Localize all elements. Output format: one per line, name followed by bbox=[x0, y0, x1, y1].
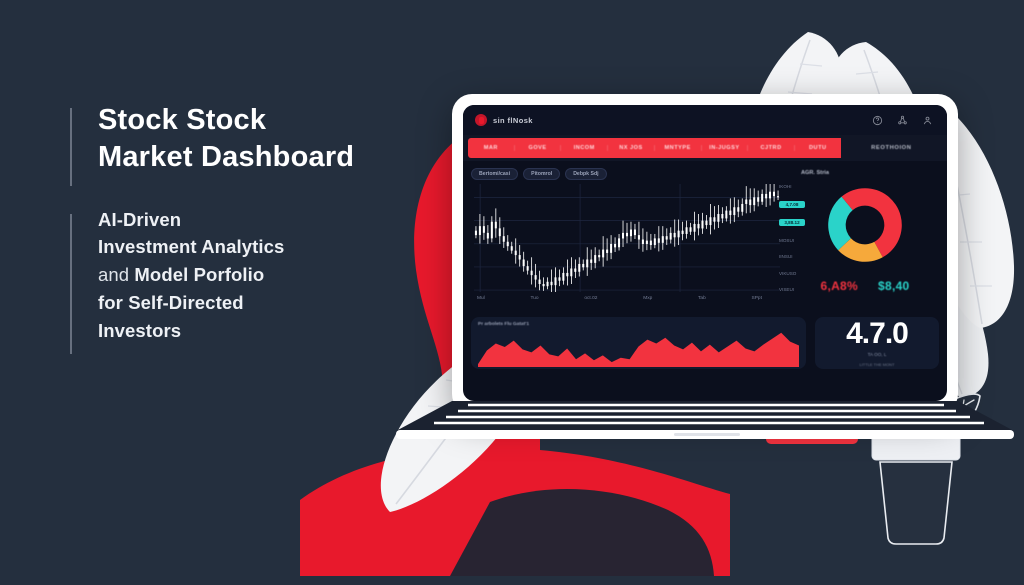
nav-item-7[interactable]: DUTU bbox=[795, 145, 841, 151]
stat-negative: 6,A8% bbox=[820, 279, 858, 293]
donut-title: AGR. Stria bbox=[801, 170, 939, 176]
subtitle-line-1: AI-Driven bbox=[98, 209, 181, 230]
hero-copy: Stock Stock Market Dashboard AI-Driven I… bbox=[70, 102, 430, 344]
nav-item-3[interactable]: NX JOS bbox=[608, 145, 655, 151]
help-circle-icon[interactable] bbox=[872, 115, 883, 126]
y-label-0: IKOHI bbox=[779, 184, 805, 189]
donut-chart bbox=[791, 179, 939, 271]
volatility-card: Pr arbolets Flu Gatat'1 bbox=[471, 317, 806, 369]
big-number-sub: TA OO, L bbox=[868, 352, 887, 357]
y-label-3: IINSUI bbox=[779, 254, 805, 259]
chart-chip-2[interactable]: Debpk Sdj bbox=[565, 168, 606, 180]
brand-mark-icon bbox=[475, 114, 487, 126]
x-label-5: SPpt bbox=[752, 296, 762, 301]
subtitle-line-4: for Self-Directed bbox=[98, 292, 244, 313]
candlestick-plot: IKOHI 4,7.08 3,88.12 MOSUI IINSUI VIKUSO… bbox=[474, 184, 780, 292]
dashboard-bottom-cards: Pr arbolets Flu Gatat'1 4.7.0 TA OO, L L… bbox=[463, 311, 947, 377]
y-label-5: VISEUI bbox=[779, 287, 805, 292]
dashboard-nav: MAR GOVE INCOM NX JOS MNTYPE IN-JUGSY CJ… bbox=[463, 135, 947, 161]
nav-item-4[interactable]: MNTYPE bbox=[655, 145, 702, 151]
x-label-2: oct.02 bbox=[584, 296, 597, 301]
allocation-donut-card: AGR. Stria 6,A8% $8,40 bbox=[787, 168, 939, 311]
divider-rule-top bbox=[70, 108, 72, 186]
dashboard-screen: sin flNosk bbox=[463, 105, 947, 401]
stat-positive: $8,40 bbox=[878, 279, 910, 293]
page-subtitle: AI-Driven Investment Analytics and Model… bbox=[98, 206, 430, 345]
laptop-mockup: sin flNosk bbox=[452, 94, 958, 438]
nav-item-6[interactable]: CJTRD bbox=[748, 145, 795, 151]
subtitle-line-5: Investors bbox=[98, 320, 181, 341]
divider-rule-bottom bbox=[70, 214, 72, 354]
page-title: Stock Stock Market Dashboard bbox=[98, 102, 430, 176]
chart-y-axis: IKOHI 4,7.08 3,88.12 MOSUI IINSUI VIKUSO… bbox=[779, 184, 805, 292]
dashboard-topbar: sin flNosk bbox=[463, 105, 947, 135]
version-metric-card: 4.7.0 TA OO, L LITTLE THE MONT bbox=[815, 317, 939, 369]
donut-stats: 6,A8% $8,40 bbox=[791, 279, 939, 293]
brand-label: sin flNosk bbox=[493, 116, 533, 125]
nav-item-0[interactable]: MAR bbox=[468, 145, 515, 151]
nav-secondary-label: REOTHOION bbox=[871, 145, 912, 151]
dashboard-main: Bertomi/casi Pitomrol Debpk Sdj bbox=[463, 161, 947, 311]
volatility-card-title: Pr arbolets Flu Gatat'1 bbox=[478, 322, 799, 327]
x-label-4: Tab bbox=[698, 296, 706, 301]
nav-secondary-item[interactable]: REOTHOION bbox=[841, 138, 942, 158]
big-number-value: 4.7.0 bbox=[846, 319, 908, 349]
y-badge-0: 4,7.08 bbox=[779, 201, 805, 208]
share-nodes-icon[interactable] bbox=[897, 115, 908, 126]
big-number-sub2: LITTLE THE MONT bbox=[859, 362, 894, 367]
nav-item-5[interactable]: IN-JUGSY bbox=[702, 145, 749, 151]
nav-item-2[interactable]: INCOM bbox=[561, 145, 608, 151]
user-account-icon[interactable] bbox=[922, 115, 933, 126]
subtitle-line-3-thin: and bbox=[98, 264, 134, 285]
x-label-0: Mul bbox=[477, 296, 485, 301]
candlestick-chart-card: Bertomi/casi Pitomrol Debpk Sdj bbox=[471, 168, 780, 311]
headline-line-2: Market Dashboard bbox=[98, 141, 354, 173]
laptop-base bbox=[396, 401, 1014, 441]
x-label-1: Tuo bbox=[531, 296, 539, 301]
chart-toolbar: Bertomi/casi Pitomrol Debpk Sdj bbox=[471, 168, 780, 180]
subtitle-line-3-bold: Model Porfolio bbox=[134, 264, 264, 285]
chart-chip-1[interactable]: Pitomrol bbox=[523, 168, 560, 180]
chart-chip-0[interactable]: Bertomi/casi bbox=[471, 168, 518, 180]
y-label-4: VIKUSO bbox=[779, 271, 805, 276]
volatility-sparkline bbox=[478, 329, 799, 367]
subtitle-line-2: Investment Analytics bbox=[98, 236, 284, 257]
poster-canvas: Stock Stock Market Dashboard AI-Driven I… bbox=[0, 0, 1024, 585]
laptop-lid: sin flNosk bbox=[452, 94, 958, 414]
red-base-sweep bbox=[300, 436, 730, 576]
brand-logo[interactable]: sin flNosk bbox=[475, 114, 533, 126]
headline-line-1: Stock Stock bbox=[98, 104, 266, 136]
nav-item-1[interactable]: GOVE bbox=[515, 145, 562, 151]
chart-x-axis: Mul Tuo oct.02 Mxp Tab SPpt bbox=[477, 296, 762, 301]
y-badge-1: 3,88.12 bbox=[779, 219, 805, 226]
topbar-icon-group bbox=[872, 105, 933, 135]
y-label-2: MOSUI bbox=[779, 238, 805, 243]
x-label-3: Mxp bbox=[643, 296, 652, 301]
nav-primary-group: MAR GOVE INCOM NX JOS MNTYPE IN-JUGSY CJ… bbox=[468, 138, 841, 158]
